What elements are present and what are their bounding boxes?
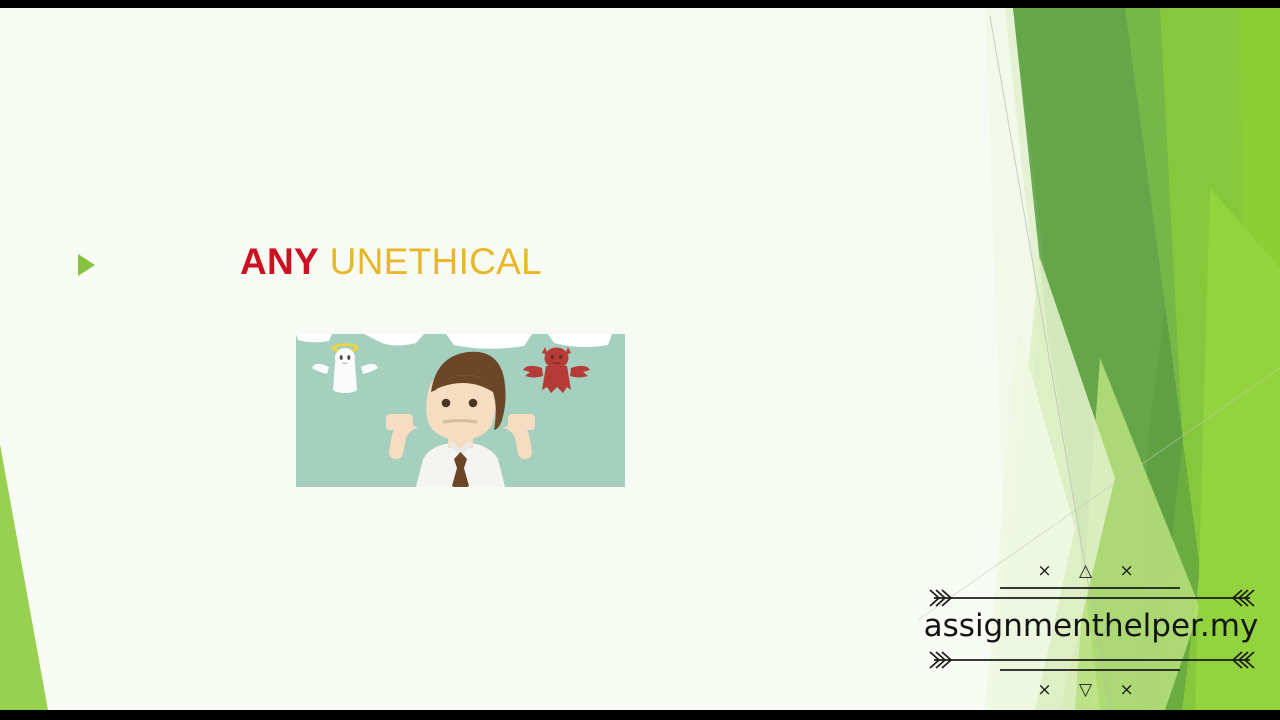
- watermark-artwork: × △ × assignmenthelper.my × ▽ ×: [912, 548, 1270, 700]
- watermark-ornament-bottom: × ▽ ×: [1037, 680, 1144, 700]
- watermark-ornament-top: × △ ×: [1037, 561, 1144, 581]
- letterbox-bar-bottom: [0, 710, 1280, 720]
- page-title: ANY UNETHICAL: [240, 240, 542, 284]
- slide-root: ANY UNETHICAL: [0, 0, 1280, 720]
- triangle-right-icon: [78, 254, 95, 276]
- watermark-assignmenthelper: × △ × assignmenthelper.my × ▽ ×: [912, 548, 1270, 700]
- illustration-artwork: [296, 334, 625, 487]
- letterbox-bar-top: [0, 0, 1280, 8]
- corner-wedge-bottom-left: [0, 444, 48, 710]
- watermark-text: assignmenthelper.my: [924, 608, 1259, 644]
- bullet-heading-row: ANY UNETHICAL: [78, 240, 542, 284]
- illustration-man-between-angel-and-devil: [296, 334, 625, 487]
- slide-canvas: ANY UNETHICAL: [0, 8, 1280, 710]
- heading-word-unethical: UNETHICAL: [330, 241, 542, 282]
- heading-word-any: ANY: [240, 241, 319, 282]
